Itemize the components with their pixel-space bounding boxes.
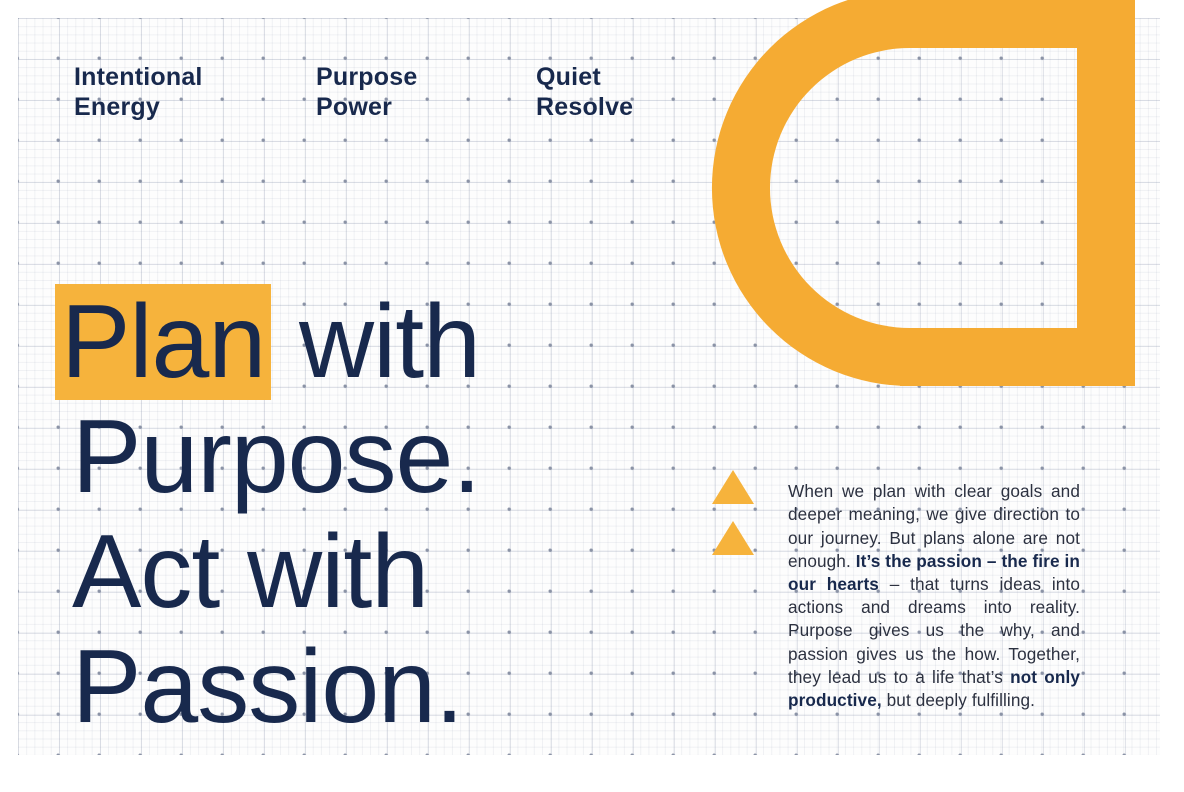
eyebrow-line-2: Energy <box>74 93 160 121</box>
triangle-bullet-group <box>712 470 758 555</box>
headline-line-4: Passion. <box>72 630 712 745</box>
eyebrow-line-2: Power <box>316 93 392 121</box>
headline: Plan with Purpose. Act with Passion. <box>72 285 712 745</box>
eyebrow-line-2: Resolve <box>536 93 633 121</box>
poster-canvas: IntentionalEnergy PurposePower QuietReso… <box>0 0 1184 792</box>
eyebrow-line-1: Quiet <box>536 63 601 91</box>
eyebrow-line-1: Purpose <box>316 63 417 91</box>
headline-highlight-plan: Plan <box>55 284 271 400</box>
triangle-icon-1 <box>712 470 754 504</box>
body-paragraph: When we plan with clear goals and deeper… <box>788 480 1080 712</box>
body-text-part-3: but deeply fulfilling. <box>882 690 1035 710</box>
headline-line-1-rest: with <box>271 284 480 400</box>
headline-line-3: Act with <box>72 515 712 630</box>
headline-line-1: Plan with <box>72 285 712 400</box>
eyebrow-line-1: Intentional <box>74 63 203 91</box>
headline-line-2: Purpose. <box>72 400 712 515</box>
eyebrow-intentional-energy: IntentionalEnergy <box>74 62 203 122</box>
eyebrow-quiet-resolve: QuietResolve <box>536 62 633 122</box>
eyebrow-purpose-power: PurposePower <box>316 62 417 122</box>
triangle-icon-2 <box>712 521 754 555</box>
